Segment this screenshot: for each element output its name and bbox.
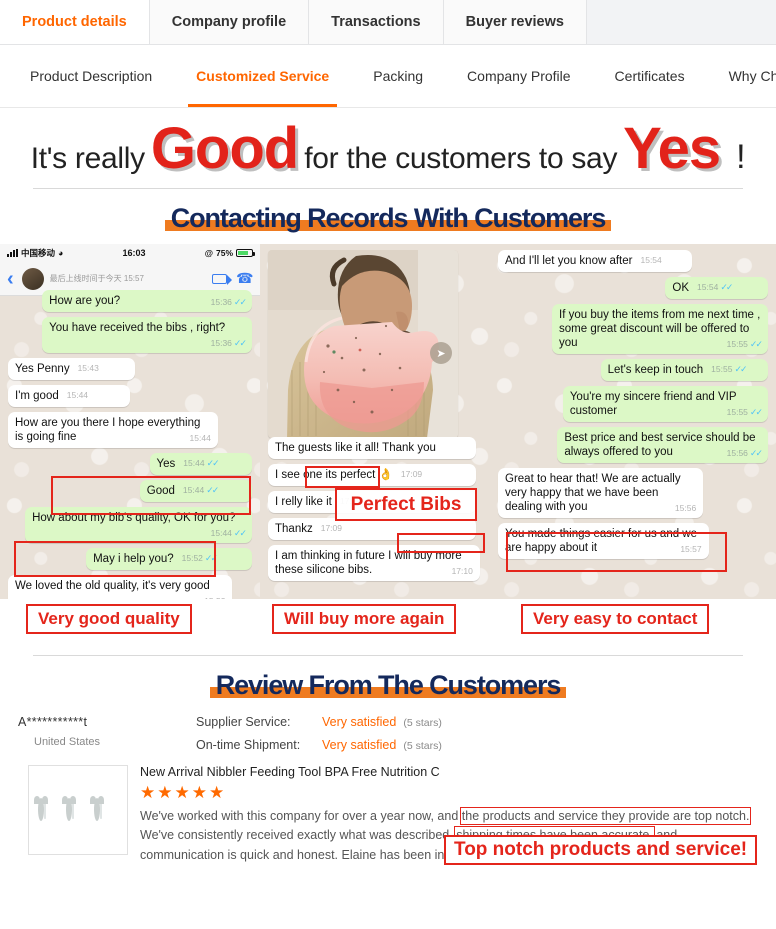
tab-label: Transactions [331, 14, 420, 30]
tab-product-details[interactable]: Product details [0, 0, 150, 44]
message-time: 15:54 [640, 255, 661, 265]
message-time: 15:44 [190, 433, 211, 443]
forward-message-icon[interactable]: ➤ [430, 342, 452, 364]
message-text: How about my bib's quality, OK for you? [32, 512, 235, 524]
message-bubble: I'm good15:44 [8, 385, 130, 407]
message-bubble: You have received the bibs , right?15:36… [42, 317, 252, 353]
read-ticks-icon: ✓✓ [234, 338, 245, 348]
hero-banner: It's really Good for the customers to sa… [0, 108, 776, 188]
message-meta: 15:56 [675, 503, 696, 513]
message-text: How are you? [49, 295, 120, 307]
message-time: 15:44 [183, 485, 204, 495]
subnav-label: Customized Service [196, 68, 329, 84]
message-bubble: How about my bib's quality, OK for you?1… [25, 507, 252, 543]
message-time: 15:55 [727, 339, 748, 349]
photo-caption-bubble: The guests like it all! Thank you [268, 437, 476, 459]
section-title: Contacting Records With Customers [167, 203, 610, 234]
message-text: Good [147, 485, 175, 497]
signal-icon [7, 249, 18, 257]
message-meta: 15:57 [680, 544, 701, 554]
tab-label: Product details [22, 14, 127, 30]
rating-stars-text: (5 stars) [403, 740, 442, 752]
status-clock: 16:03 [63, 248, 204, 258]
section-title: Review From The Customers [212, 670, 565, 701]
buyer-review-block: A***********t United States Supplier Ser… [0, 715, 776, 865]
phone-status-bar: 中国移动 ◕ 16:03 @ 75% [0, 244, 260, 262]
reviewer-country: United States [18, 736, 196, 748]
review-highlight-1: the products and service they provide ar… [462, 809, 750, 823]
callout-very-easy-to-contact: Very easy to contact [521, 604, 709, 634]
section-heading-reviews: Review From The Customers [0, 656, 776, 711]
message-time: 15:52 [182, 553, 203, 563]
rating-label: On-time Shipment: [196, 738, 322, 752]
subnav-item-customized-service[interactable]: Customized Service [174, 45, 351, 107]
message-text: Thankz [275, 523, 313, 535]
baby-wearing-bib-image [268, 250, 458, 438]
rating-label: Supplier Service: [196, 715, 322, 729]
message-text: The guests like it all! Thank you [275, 442, 436, 454]
read-ticks-icon: ✓✓ [750, 339, 761, 349]
message-meta: 15:44✓✓ [211, 528, 245, 539]
message-meta: 15:52✓✓ [182, 553, 216, 563]
callout-strip: Very good quality Will buy more again Ve… [0, 599, 776, 647]
message-bubble: And I'll let you know after15:54 [498, 250, 692, 272]
subnav-item-product-description[interactable]: Product Description [8, 45, 174, 107]
message-meta: 17:09 [401, 469, 422, 479]
message-list-right: And I'll let you know after15:54 OK15:54… [490, 244, 776, 559]
message-text: You're my sincere friend and VIP custome… [570, 391, 737, 417]
message-bubble: I see one its perfect 👌17:09 [268, 464, 476, 486]
message-bubble: OK15:54✓✓ [665, 277, 768, 299]
hero-word-yes: Yes [623, 123, 720, 175]
chat-screenshot-middle: ➤ The guests like it all! Thank you I se… [260, 244, 490, 599]
read-ticks-icon: ✓✓ [734, 364, 745, 374]
read-ticks-icon: ✓✓ [750, 407, 761, 417]
section-heading-contacting: Contacting Records With Customers [0, 189, 776, 244]
message-bubble: I am thinking in future I will buy more … [268, 545, 480, 581]
message-bubble: Best price and best service should be al… [557, 427, 768, 463]
message-bubble: If you buy the items from me next time ,… [552, 304, 768, 354]
message-meta: 15:56✓✓ [727, 448, 761, 459]
message-text: Great to hear that! We are actually very… [505, 473, 681, 513]
annotation-label-perfect-bibs: Perfect Bibs [335, 488, 477, 521]
callout-will-buy-more-again: Will buy more again [272, 604, 456, 634]
callout-very-good-quality: Very good quality [26, 604, 192, 634]
message-meta: 15:55✓✓ [727, 339, 761, 350]
message-meta: 15:36✓✓ [211, 338, 245, 349]
message-text: You made things easier for us and we are… [505, 528, 697, 554]
callout-text: Very easy to contact [533, 609, 697, 628]
message-time: 17:10 [452, 566, 473, 576]
message-time: 15:55 [727, 407, 748, 417]
message-meta: 15:44 [67, 390, 88, 400]
rating-rows: Supplier Service: Very satisfied (5 star… [196, 715, 762, 761]
message-time: 15:44 [211, 528, 232, 538]
message-meta: 15:54✓✓ [697, 282, 731, 292]
message-bubble: You made things easier for us and we are… [498, 523, 709, 559]
hero-middle: for the customers to say [304, 142, 617, 176]
message-time: 17:09 [401, 469, 422, 479]
tab-label: Buyer reviews [466, 14, 564, 30]
review-text-1: We've worked with this company for over … [140, 809, 462, 823]
phone-call-icon[interactable]: ☎ [236, 270, 253, 287]
message-bubble: Good15:44✓✓ [140, 480, 252, 502]
avatar[interactable] [22, 268, 44, 290]
message-bubble: May i help you?15:52✓✓ [86, 548, 252, 570]
back-icon[interactable]: ‹ [7, 269, 14, 289]
subnav-item-certificates[interactable]: Certificates [593, 45, 707, 107]
message-bubble: Yes Penny15:43 [8, 358, 135, 380]
message-text: I see one its perfect 👌 [275, 469, 393, 481]
message-time: 15:56 [727, 448, 748, 458]
annotation-text: Perfect Bibs [351, 494, 462, 516]
tab-company-profile[interactable]: Company profile [150, 0, 309, 44]
message-text: Let's keep in touch [608, 364, 704, 376]
read-ticks-icon: ✓✓ [206, 485, 217, 495]
read-ticks-icon: ✓✓ [234, 297, 245, 307]
message-time: 15:44 [67, 390, 88, 400]
subnav-label: Company Profile [467, 68, 571, 84]
message-time: 15:56 [675, 503, 696, 513]
message-text: OK [672, 282, 689, 294]
callout-text: Top notch products and service! [454, 839, 747, 860]
message-text: Yes [157, 458, 176, 470]
nibbler-pink-icon [38, 801, 62, 819]
message-meta: 15:55✓✓ [711, 364, 745, 374]
rating-value: Very satisfied [322, 738, 396, 752]
message-meta: 15:55✓✓ [727, 407, 761, 418]
message-bubble: Thankz17:09 [268, 518, 476, 540]
message-bubble: Yes15:44✓✓ [150, 453, 252, 475]
message-meta: 17:09 [321, 523, 342, 533]
message-time: 15:43 [78, 363, 99, 373]
callout-top-notch: Top notch products and service! [444, 835, 757, 865]
message-text: I am thinking in future I will buy more … [275, 550, 462, 576]
tab-buyer-reviews[interactable]: Buyer reviews [444, 0, 587, 44]
tabbar-filler [587, 0, 776, 44]
nibbler-blue-icon [94, 801, 118, 819]
star-rating-icon: ★★★★★ [140, 783, 762, 803]
chat-screenshot-right: And I'll let you know after15:54 OK15:54… [490, 244, 776, 599]
review-header-row: A***********t United States Supplier Ser… [14, 715, 762, 761]
message-meta: 15:44✓✓ [183, 458, 217, 468]
message-bubble: You're my sincere friend and VIP custome… [563, 386, 768, 422]
subnav-label: Product Description [30, 68, 152, 84]
subnav-item-packing[interactable]: Packing [351, 45, 445, 107]
hero-word-good: Good [151, 123, 298, 175]
subnav-label: Packing [373, 68, 423, 84]
status-left: 中国移动 ◕ [7, 247, 63, 259]
message-meta: 15:54 [640, 255, 661, 265]
chat-gallery: 中国移动 ◕ 16:03 @ 75% ‹ 最后上线时间于今天 15:57 ☎ [0, 244, 776, 599]
message-text: I'm good [15, 390, 59, 402]
product-detail-page: Product details Company profile Transact… [0, 0, 776, 929]
rating-row-supplier-service: Supplier Service: Very satisfied (5 star… [196, 715, 762, 729]
product-thumbnail[interactable] [28, 765, 128, 855]
message-meta: 15:44 [190, 433, 211, 443]
message-text: I relly like it [275, 496, 332, 508]
message-time: 15:36 [211, 297, 232, 307]
message-list-left: 15:36✓✓How are you? You have received th… [0, 296, 260, 599]
primary-tabbar: Product details Company profile Transact… [0, 0, 776, 45]
secondary-nav: Product Description Customized Service P… [0, 45, 776, 108]
read-ticks-icon: ✓✓ [750, 448, 761, 458]
message-time: 15:57 [680, 544, 701, 554]
read-ticks-icon: ✓✓ [207, 458, 218, 468]
message-time: 15:54 [697, 282, 718, 292]
rating-row-ontime-shipment: On-time Shipment: Very satisfied (5 star… [196, 738, 762, 752]
message-time: 15:55 [711, 364, 732, 374]
heading-text: Review From The Customers [216, 670, 561, 700]
at-icon: @ [205, 248, 213, 258]
hero-line: It's really Good for the customers to sa… [31, 123, 746, 177]
read-ticks-icon: ✓✓ [205, 553, 216, 563]
hero-exclamation: ! [736, 138, 745, 177]
subnav-item-why-choose-us[interactable]: Why Choose Us [707, 45, 776, 107]
nibbler-green-icon [66, 801, 90, 819]
chat-header-icons: ☎ [212, 270, 253, 287]
tab-transactions[interactable]: Transactions [309, 0, 443, 44]
last-seen-label: 最后上线时间于今天 15:57 [50, 273, 212, 284]
subnav-label: Certificates [615, 68, 685, 84]
subnav-label: Why Choose Us [729, 68, 776, 84]
read-ticks-icon: ✓✓ [234, 528, 245, 538]
message-bubble: 15:36✓✓How are you? [42, 290, 252, 312]
message-time: 15:36 [211, 338, 232, 348]
tab-label: Company profile [172, 14, 286, 30]
message-time: 15:44 [183, 458, 204, 468]
rating-value: Very satisfied [322, 715, 396, 729]
message-text: How are you there I hope everything is g… [15, 417, 200, 443]
message-time: 17:09 [321, 523, 342, 533]
hero-prefix: It's really [31, 142, 145, 176]
subnav-item-company-profile[interactable]: Company Profile [445, 45, 593, 107]
message-text: You have received the bibs , right? [49, 322, 225, 334]
message-bubble: Let's keep in touch15:55✓✓ [601, 359, 768, 381]
callout-text: Very good quality [38, 609, 180, 628]
message-meta: 15:43 [78, 363, 99, 373]
message-text: Yes Penny [15, 363, 70, 375]
heading-text: Contacting Records With Customers [171, 203, 606, 233]
message-text: May i help you? [93, 553, 174, 565]
reviewer-name: A***********t [18, 715, 196, 729]
callout-text: Will buy more again [284, 609, 444, 628]
reviewed-product-title[interactable]: New Arrival Nibbler Feeding Tool BPA Fre… [140, 765, 762, 779]
carrier-label: 中国移动 [21, 247, 55, 259]
message-text: And I'll let you know after [505, 255, 632, 267]
battery-icon [236, 249, 253, 257]
chat-screenshot-left: 中国移动 ◕ 16:03 @ 75% ‹ 最后上线时间于今天 15:57 ☎ [0, 244, 260, 599]
message-meta: 15:44✓✓ [183, 485, 217, 495]
review-text-2: We've consistently received exactly what… [140, 828, 456, 842]
rating-stars-text: (5 stars) [403, 717, 442, 729]
status-right: @ 75% [205, 248, 253, 258]
message-meta: 15:36✓✓ [211, 297, 245, 308]
message-bubble: We loved the old quality, it's very good… [8, 575, 232, 599]
read-ticks-icon: ✓✓ [720, 282, 731, 292]
message-text: We loved the old quality, it's very good [15, 580, 210, 592]
message-bubble: Great to hear that! We are actually very… [498, 468, 703, 518]
reviewer-info: A***********t United States [14, 715, 196, 761]
battery-percent: 75% [216, 248, 233, 258]
message-meta: 17:10 [452, 566, 473, 576]
product-photo-bib[interactable]: ➤ [268, 250, 458, 438]
message-bubble: How are you there I hope everything is g… [8, 412, 218, 448]
video-call-icon[interactable] [212, 274, 227, 284]
